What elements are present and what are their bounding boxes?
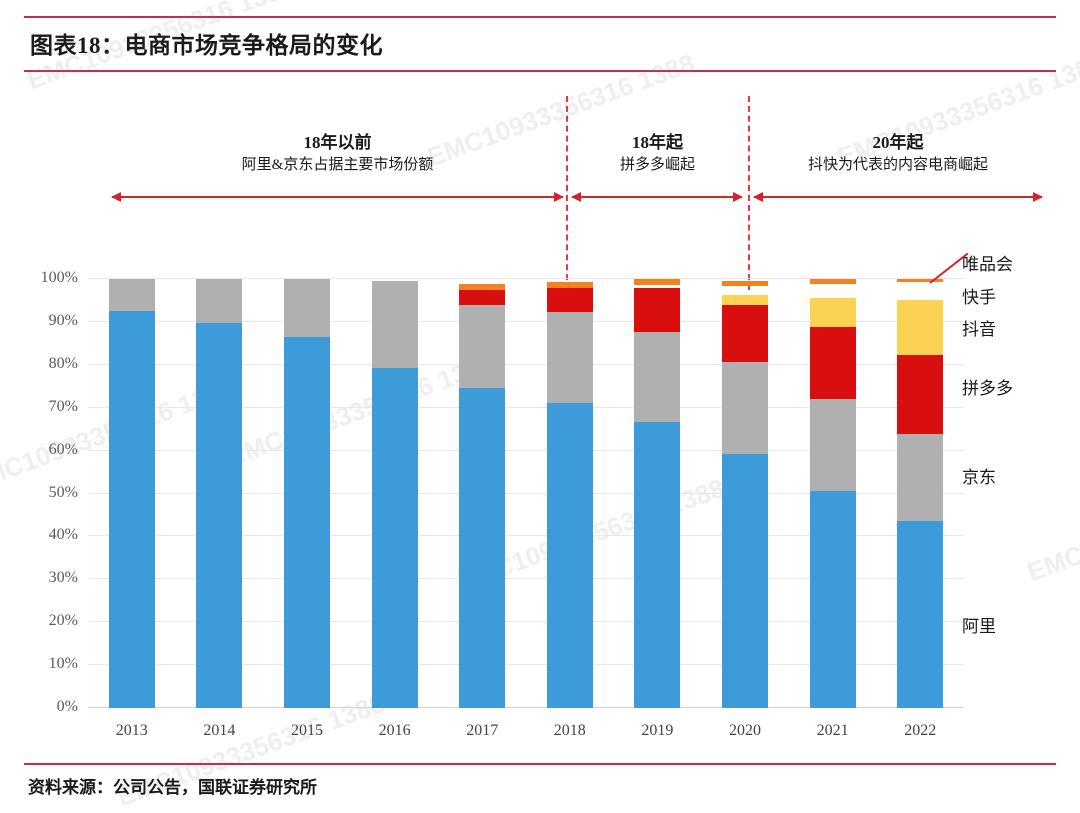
phase-2-arrow [572,196,742,198]
bar-segment-快手[interactable] [722,286,768,295]
x-axis-tick-label: 2022 [875,722,965,740]
bar-2016[interactable]: 2016 [372,279,418,708]
bar-segment-唯品会[interactable] [722,281,768,286]
bar-segment-唯品会[interactable] [897,279,943,282]
chart-plot-area: 0%10%20%30%40%50%60%70%80%90%100%2013201… [88,279,964,708]
source-note: 资料来源：公司公告，国联证券研究所 [28,773,317,798]
bar-segment-抖音[interactable] [897,300,943,355]
phase-1-heading: 18年以前 [110,132,565,154]
bar-segment-京东[interactable] [109,279,155,311]
x-axis-tick-label: 2014 [174,722,264,740]
legend-label-ali: 阿里 [962,612,996,637]
bar-segment-阿里[interactable] [372,368,418,708]
y-axis-tick-label: 50% [49,484,78,502]
y-axis-tick-label: 70% [49,398,78,416]
phase-2-subtitle: 拼多多崛起 [570,154,745,176]
bar-2014[interactable]: 2014 [196,279,242,708]
legend-label-weipinhui: 唯品会 [962,250,1013,275]
phase-divider-2020 [748,96,750,290]
x-axis-tick-label: 2018 [525,722,615,740]
y-axis-tick-label: 60% [49,441,78,459]
phase-annotation-1: 18年以前 阿里&京东占据主要市场份额 [110,132,565,176]
phase-1-subtitle: 阿里&京东占据主要市场份额 [110,154,565,176]
bar-2018[interactable]: 2018 [547,279,593,708]
bar-segment-京东[interactable] [196,279,242,323]
bar-segment-阿里[interactable] [459,388,505,708]
bar-segment-阿里[interactable] [109,311,155,708]
bar-segment-唯品会[interactable] [810,279,856,284]
bar-segment-阿里[interactable] [897,521,943,708]
phase-annotation-2: 18年起 拼多多崛起 [570,132,745,176]
y-axis-tick-label: 0% [57,698,78,716]
bar-segment-京东[interactable] [547,312,593,404]
bar-segment-阿里[interactable] [196,323,242,708]
legend-label-pinduoduo: 拼多多 [962,374,1013,399]
bar-segment-阿里[interactable] [810,491,856,708]
phase-3-arrow [754,196,1042,198]
legend-label-kuaishou: 快手 [962,283,996,308]
bar-2021[interactable]: 2021 [810,279,856,708]
y-axis-tick-label: 10% [49,655,78,673]
bar-2022[interactable]: 2022 [897,279,943,708]
watermark: EMC10933356316 1388 [1023,463,1080,589]
bar-segment-京东[interactable] [459,305,505,389]
bar-segment-快手[interactable] [634,285,680,287]
bar-segment-京东[interactable] [634,332,680,422]
bar-segment-拼多多[interactable] [459,290,505,305]
bar-2015[interactable]: 2015 [284,279,330,708]
phase-annotation-3: 20年起 抖快为代表的内容电商崛起 [752,132,1044,176]
bar-segment-京东[interactable] [897,434,943,521]
bar-segment-抖音[interactable] [722,295,768,305]
x-axis-tick-label: 2019 [612,722,702,740]
bar-segment-京东[interactable] [284,279,330,337]
bar-segment-快手[interactable] [897,282,943,299]
x-axis-tick-label: 2015 [262,722,352,740]
bar-segment-京东[interactable] [722,362,768,454]
y-axis-tick-label: 30% [49,569,78,587]
bar-segment-快手[interactable] [810,284,856,298]
bar-segment-阿里[interactable] [547,403,593,708]
phase-divider-2018 [566,96,568,290]
x-axis-tick-label: 2017 [437,722,527,740]
bar-segment-唯品会[interactable] [459,284,505,290]
phase-3-heading: 20年起 [752,132,1044,154]
bar-segment-拼多多[interactable] [547,288,593,312]
bar-2013[interactable]: 2013 [109,279,155,708]
y-axis-tick-label: 100% [41,269,78,287]
page-title: 图表18：电商市场竞争格局的变化 [30,26,383,60]
legend-label-douyin: 抖音 [962,315,996,340]
bar-2020[interactable]: 2020 [722,279,768,708]
bar-segment-唯品会[interactable] [634,279,680,285]
x-axis-tick-label: 2021 [788,722,878,740]
legend-label-jingdong: 京东 [962,463,996,488]
y-axis-tick-label: 40% [49,526,78,544]
y-axis-tick-label: 80% [49,355,78,373]
bar-segment-拼多多[interactable] [634,288,680,332]
bar-segment-阿里[interactable] [284,337,330,708]
phase-3-subtitle: 抖快为代表的内容电商崛起 [752,154,1044,176]
bar-2017[interactable]: 2017 [459,279,505,708]
bar-segment-抖音[interactable] [810,298,856,327]
bar-segment-拼多多[interactable] [722,305,768,362]
phase-1-arrow [112,196,563,198]
bar-segment-阿里[interactable] [722,454,768,708]
x-axis-tick-label: 2013 [87,722,177,740]
x-axis-tick-label: 2016 [350,722,440,740]
bar-segment-唯品会[interactable] [547,282,593,288]
y-axis-tick-label: 20% [49,612,78,630]
bar-segment-拼多多[interactable] [897,355,943,435]
phase-2-heading: 18年起 [570,132,745,154]
bar-segment-京东[interactable] [372,281,418,368]
title-rule-top [24,16,1056,18]
bar-segment-拼多多[interactable] [810,327,856,399]
y-axis-tick-label: 90% [49,312,78,330]
bar-2019[interactable]: 2019 [634,279,680,708]
bar-segment-京东[interactable] [810,399,856,491]
title-rule-bottom [24,70,1056,72]
bar-segment-阿里[interactable] [634,422,680,708]
x-axis-tick-label: 2020 [700,722,790,740]
footer-rule [24,763,1056,765]
